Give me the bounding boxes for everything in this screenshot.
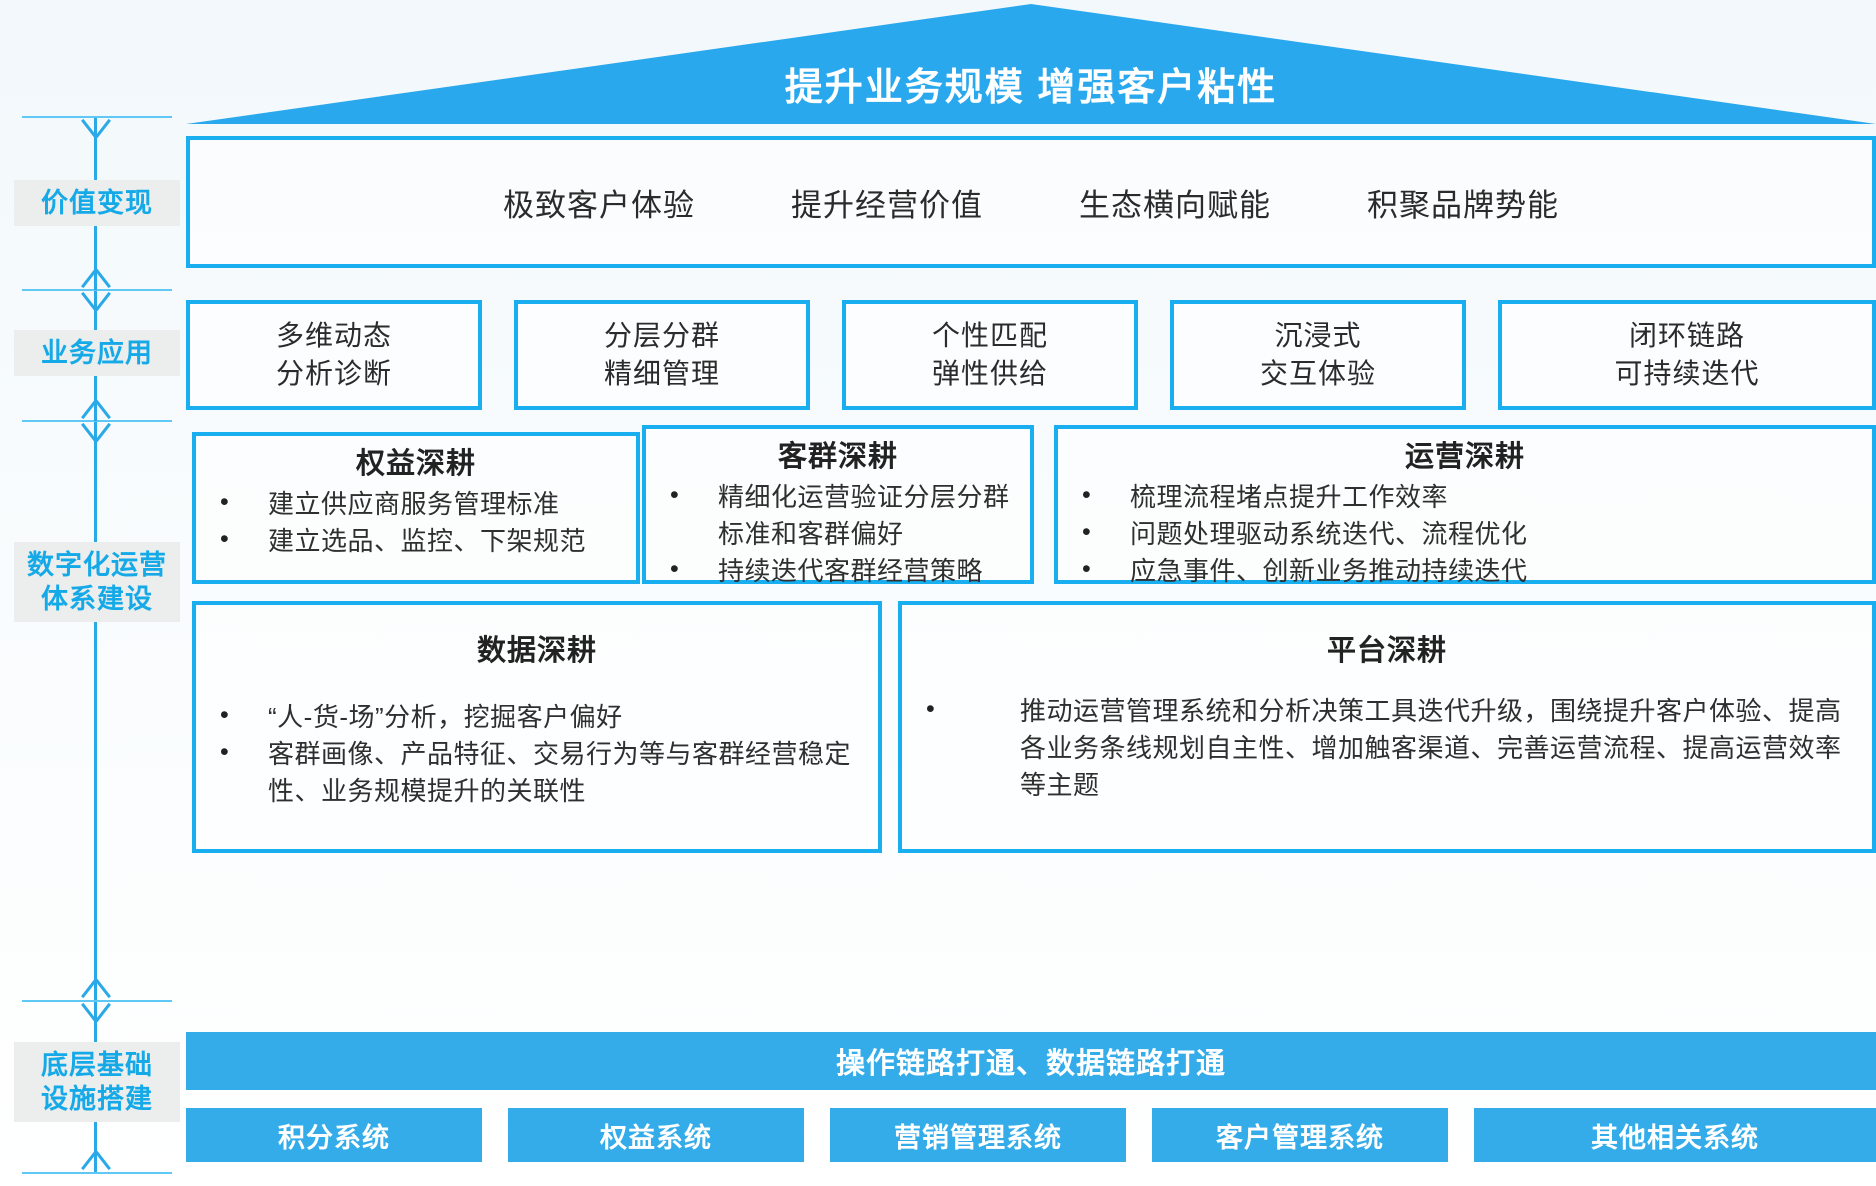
deep-box-data-list: “人-货-场”分析，挖掘客户偏好 客群画像、产品特征、交易行为等与客群经营稳定性… (206, 699, 868, 810)
rail-arrowhead-up-1 (79, 118, 113, 140)
list-item: 客群画像、产品特征、交易行为等与客群经营稳定性、业务规模提升的关联性 (206, 736, 868, 810)
app-box-4-line1: 沉浸式 (1274, 317, 1361, 355)
system-box-marketing-label: 营销管理系统 (894, 1116, 1062, 1155)
rail-arrowhead-down-1 (79, 268, 113, 290)
deep-box-customer-group-title: 客群深耕 (656, 437, 1020, 477)
rail-label-business-application-text: 业务应用 (41, 338, 153, 368)
app-box-5-line1: 闭环链路 (1629, 317, 1745, 355)
rail-label-digital-operations-line1: 数字化运营 (14, 548, 180, 582)
app-box-multidimensional-analysis[interactable]: 多维动态 分析诊断 (186, 300, 482, 410)
list-item: 梳理流程堵点提升工作效率 (1068, 479, 1862, 516)
deep-box-operations-list: 梳理流程堵点提升工作效率 问题处理驱动系统迭代、流程优化 应急事件、创新业务推动… (1068, 479, 1862, 590)
system-box-rights[interactable]: 权益系统 (508, 1108, 804, 1162)
value-layer-items: 极致客户体验 提升经营价值 生态横向赋能 积聚品牌势能 (186, 136, 1876, 268)
system-box-other-label: 其他相关系统 (1591, 1116, 1759, 1155)
link-bar-text: 操作链路打通、数据链路打通 (836, 1040, 1226, 1082)
deep-box-operations-title: 运营深耕 (1068, 437, 1862, 477)
deep-box-rights-list: 建立供应商服务管理标准 建立选品、监控、下架规范 (206, 486, 626, 560)
list-item: 精细化运营验证分层分群标准和客群偏好 (656, 479, 1020, 553)
deep-box-platform-list: 推动运营管理系统和分析决策工具迭代升级，围绕提升客户体验、提高各业务条线规划自主… (912, 693, 1862, 804)
rail-label-business-application: 业务应用 (14, 330, 180, 376)
link-bar: 操作链路打通、数据链路打通 (186, 1032, 1876, 1090)
rail-arrowhead-up-2 (79, 291, 113, 313)
rail-arrowhead-down-3 (79, 978, 113, 1000)
rail-label-digital-operations: 数字化运营 体系建设 (14, 542, 180, 622)
app-box-immersive-interaction[interactable]: 沉浸式 交互体验 (1170, 300, 1466, 410)
rail-label-infrastructure: 底层基础 设施搭建 (14, 1042, 180, 1122)
app-box-2-line2: 精细管理 (604, 355, 720, 393)
value-item-brand-momentum: 积聚品牌势能 (1367, 180, 1559, 225)
deep-box-platform-title: 平台深耕 (912, 631, 1862, 671)
app-box-3-line2: 弹性供给 (932, 355, 1048, 393)
list-item: 建立选品、监控、下架规范 (206, 523, 626, 560)
app-box-1-line1: 多维动态 (276, 317, 392, 355)
rail-arrow-line-3 (94, 422, 97, 1000)
stage-rail: 价值变现 业务应用 数字化运营 体系建设 底层基础 设施搭建 (0, 0, 196, 1186)
rail-arrowhead-up-3 (79, 422, 113, 444)
app-box-3-line1: 个性匹配 (932, 317, 1048, 355)
system-box-customer-label: 客户管理系统 (1216, 1116, 1384, 1155)
roof-title: 提升业务规模 增强客户粘性 (186, 56, 1876, 111)
system-box-rights-label: 权益系统 (600, 1116, 712, 1155)
deep-box-rights-title: 权益深耕 (206, 444, 626, 484)
list-item: “人-货-场”分析，挖掘客户偏好 (206, 699, 868, 736)
deep-box-customer-group-list: 精细化运营验证分层分群标准和客群偏好 持续迭代客群经营策略 (656, 479, 1020, 590)
rail-label-digital-operations-line2: 体系建设 (14, 582, 180, 616)
deep-box-customer-group[interactable]: 客群深耕 精细化运营验证分层分群标准和客群偏好 持续迭代客群经营策略 (642, 425, 1034, 584)
list-item: 问题处理驱动系统迭代、流程优化 (1068, 516, 1862, 553)
list-item: 推动运营管理系统和分析决策工具迭代升级，围绕提升客户体验、提高各业务条线规划自主… (912, 693, 1862, 804)
rail-arrowhead-up-4 (79, 1002, 113, 1024)
list-item: 持续迭代客群经营策略 (656, 553, 1020, 590)
rail-arrowhead-down-2 (79, 399, 113, 421)
list-item: 应急事件、创新业务推动持续迭代 (1068, 553, 1862, 590)
system-box-marketing[interactable]: 营销管理系统 (830, 1108, 1126, 1162)
app-box-2-line1: 分层分群 (604, 317, 720, 355)
app-box-personalized-matching[interactable]: 个性匹配 弹性供给 (842, 300, 1138, 410)
deep-box-data-title: 数据深耕 (206, 631, 868, 671)
rail-label-infrastructure-line1: 底层基础 (14, 1048, 180, 1082)
app-box-4-line2: 交互体验 (1260, 355, 1376, 393)
deep-box-data[interactable]: 数据深耕 “人-货-场”分析，挖掘客户偏好 客群画像、产品特征、交易行为等与客群… (192, 601, 882, 853)
system-box-customer[interactable]: 客户管理系统 (1152, 1108, 1448, 1162)
deep-box-operations[interactable]: 运营深耕 梳理流程堵点提升工作效率 问题处理驱动系统迭代、流程优化 应急事件、创… (1054, 425, 1876, 584)
rail-arrowhead-down-4 (79, 1150, 113, 1172)
deep-box-rights[interactable]: 权益深耕 建立供应商服务管理标准 建立选品、监控、下架规范 (192, 432, 640, 584)
rail-label-infrastructure-line2: 设施搭建 (14, 1082, 180, 1116)
system-box-points[interactable]: 积分系统 (186, 1108, 482, 1162)
app-box-closed-loop-iteration[interactable]: 闭环链路 可持续迭代 (1498, 300, 1876, 410)
app-box-5-line2: 可持续迭代 (1614, 355, 1759, 393)
system-box-points-label: 积分系统 (278, 1116, 390, 1155)
list-item: 建立供应商服务管理标准 (206, 486, 626, 523)
value-item-customer-experience: 极致客户体验 (503, 180, 695, 225)
system-box-other[interactable]: 其他相关系统 (1474, 1108, 1876, 1162)
app-box-tiered-segmentation[interactable]: 分层分群 精细管理 (514, 300, 810, 410)
rail-label-value-realization-text: 价值变现 (41, 188, 153, 218)
app-box-1-line2: 分析诊断 (276, 355, 392, 393)
value-item-ecosystem-enablement: 生态横向赋能 (1079, 180, 1271, 225)
pyramid-diagram: 提升业务规模 增强客户粘性 极致客户体验 提升经营价值 生态横向赋能 积聚品牌势… (186, 0, 1876, 1186)
deep-box-platform[interactable]: 平台深耕 推动运营管理系统和分析决策工具迭代升级，围绕提升客户体验、提高各业务条… (898, 601, 1876, 853)
rail-divider-bottom (22, 1172, 172, 1174)
rail-label-value-realization: 价值变现 (14, 180, 180, 226)
value-item-business-value: 提升经营价值 (791, 180, 983, 225)
